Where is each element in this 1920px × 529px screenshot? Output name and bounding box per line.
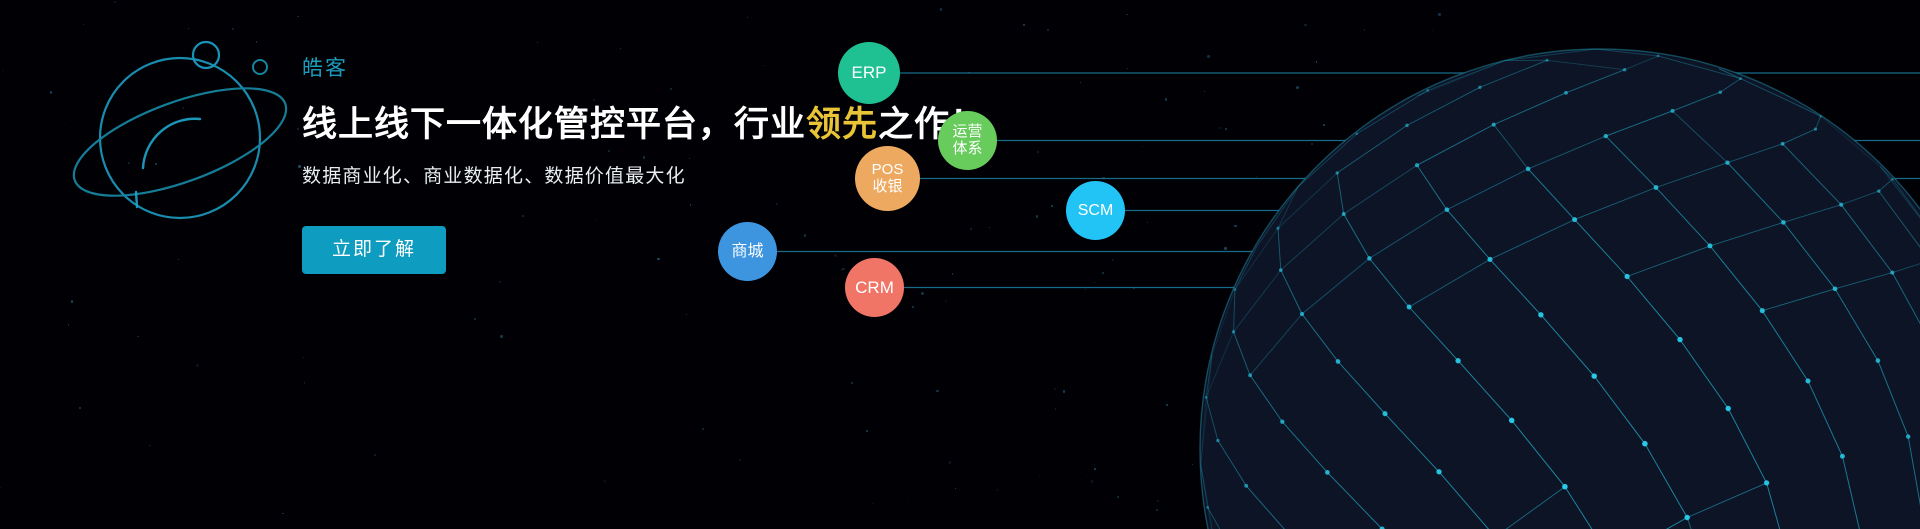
- node-erp[interactable]: ERP: [838, 42, 900, 104]
- hero-banner: 皓客 线上线下一体化管控平台，行业领先之作！ 数据商业化、商业数据化、数据价值最…: [0, 0, 1920, 529]
- node-crm[interactable]: CRM: [845, 258, 904, 317]
- node-label: CRM: [855, 278, 894, 297]
- node-label: 运营体系: [952, 124, 982, 158]
- learn-more-button[interactable]: 立即了解: [302, 226, 446, 274]
- globe-mesh: [1201, 49, 1920, 529]
- node-label: SCM: [1078, 202, 1114, 220]
- wireframe-globe: [1190, 39, 1920, 529]
- node-ops[interactable]: 运营体系: [938, 111, 997, 170]
- headline-part1: 线上线下一体化管控平台，行业: [302, 105, 806, 144]
- node-label: 商城: [731, 243, 763, 261]
- node-label: POS收银: [872, 162, 904, 196]
- page-title: 线上线下一体化管控平台，行业领先之作！: [302, 105, 942, 145]
- globe-dots: [1205, 55, 1920, 529]
- planet-illustration: [48, 20, 298, 240]
- node-mall[interactable]: 商城: [718, 222, 777, 281]
- globe-body: [1200, 49, 1920, 529]
- globe-rim: [1200, 49, 1920, 529]
- node-scm[interactable]: SCM: [1066, 181, 1125, 240]
- node-pos[interactable]: POS收银: [855, 146, 920, 211]
- hero-subtitle: 数据商业化、商业数据化、数据价值最大化: [302, 167, 942, 186]
- node-label: ERP: [852, 63, 887, 82]
- planet-icon: [48, 20, 298, 240]
- headline-highlight: 领先: [806, 105, 878, 144]
